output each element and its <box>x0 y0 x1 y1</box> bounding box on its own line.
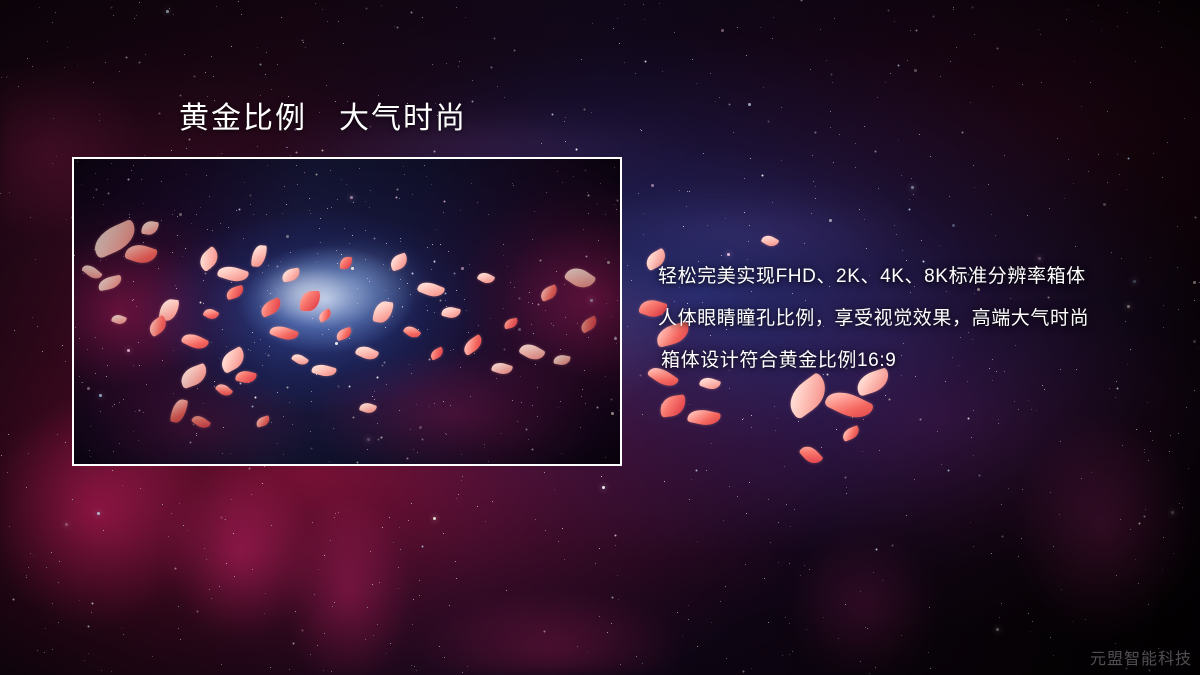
body-copy: 轻松完美实现FHD、2K、4K、8K标准分辨率箱体 人体眼睛瞳孔比例，享受视觉效… <box>658 256 1178 382</box>
body-line-3: 箱体设计符合黄金比例16:9 <box>658 340 1178 382</box>
watermark: 元盟智能科技 <box>1090 645 1192 669</box>
body-line-2: 人体眼睛瞳孔比例，享受视觉效果，高端大气时尚 <box>658 298 1178 340</box>
preview-scene <box>74 159 620 464</box>
preview-vignette <box>74 159 620 464</box>
preview-frame[interactable] <box>72 157 622 466</box>
presentation-slide: 黄金比例 大气时尚 轻松完美实现FHD、2K、4K、8K标准分辨率箱体 人体眼睛… <box>0 0 1200 675</box>
page-title: 黄金比例 大气时尚 <box>179 101 467 137</box>
body-line-1: 轻松完美实现FHD、2K、4K、8K标准分辨率箱体 <box>658 256 1178 298</box>
